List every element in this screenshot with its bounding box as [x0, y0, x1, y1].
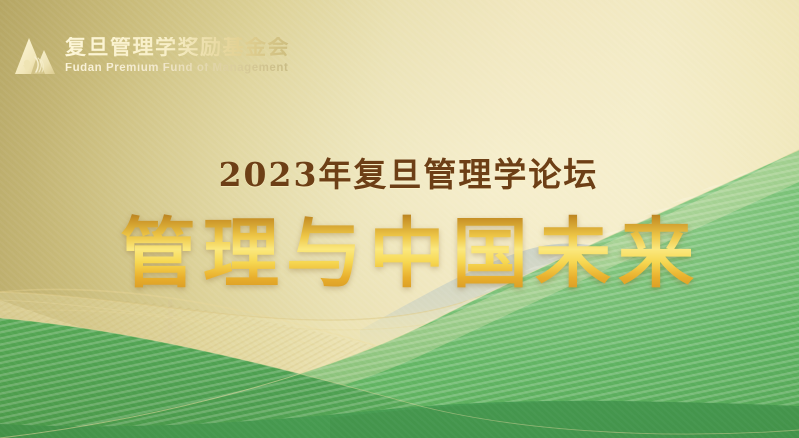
event-main-title: 管理与中国未来 — [0, 192, 799, 302]
fudan-premium-fund-triangle-flame-icon — [14, 34, 56, 78]
poster-canvas: 复旦管理学奖励基金会 Fudan Premium Fund of Managem… — [0, 0, 799, 438]
foundation-logo: 复旦管理学奖励基金会 Fudan Premium Fund of Managem… — [14, 34, 290, 78]
event-year-title: 2023年复旦管理学论坛 — [0, 148, 799, 196]
logo-chinese-name: 复旦管理学奖励基金会 — [65, 37, 290, 58]
logo-english-name: Fudan Premium Fund of Management — [65, 63, 290, 75]
logo-wordmark: 复旦管理学奖励基金会 Fudan Premium Fund of Managem… — [65, 37, 290, 75]
